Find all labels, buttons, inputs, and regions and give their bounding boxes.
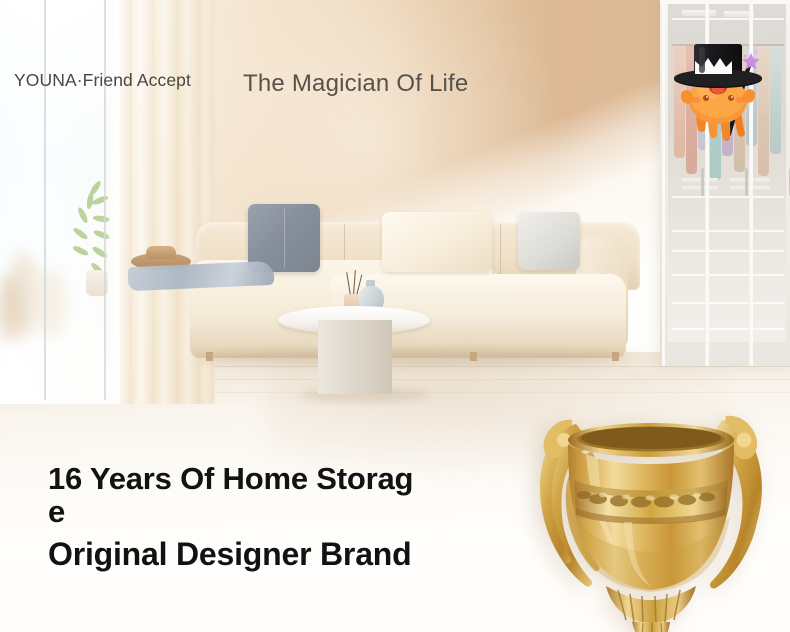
wardrobe-handle[interactable] [745,168,748,196]
promo-banner: YOUNA·Friend Accept The Magician Of Life… [0,0,790,632]
brand-line: YOUNA·Friend Accept [14,70,191,91]
window-wall [0,0,214,404]
sofa-shadow [196,350,632,366]
cushion-light-grey [518,212,580,270]
sofa-leg [470,352,477,361]
trophy-icon [506,396,790,632]
curtain-fold [132,0,154,404]
outdoor-blur [36,268,66,338]
headline: 16 Years Of Home Storage [48,462,420,529]
subheadline: Original Designer Brand [48,537,411,572]
sofa-leg [206,352,213,361]
window-mullion [44,0,46,400]
window-mullion [104,0,106,400]
curtain-fold [106,0,132,404]
sofa-leg [612,352,619,361]
magician-octopus-icon [672,42,788,154]
curtain-fold [154,0,178,404]
coffee-table-base [318,320,392,394]
trophy-foot [606,586,696,632]
tagline: The Magician Of Life [243,70,468,98]
cushion-cream [382,212,492,272]
wardrobe-handle[interactable] [701,168,704,196]
wardrobe-top-frame [660,0,790,4]
straw-hat-crown [146,246,176,259]
